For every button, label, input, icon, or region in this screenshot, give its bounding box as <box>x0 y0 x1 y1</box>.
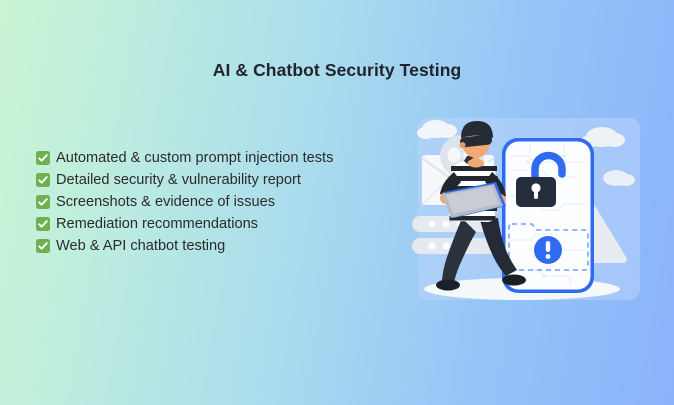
feature-list: Automated & custom prompt injection test… <box>36 147 406 257</box>
list-item-label: Screenshots & evidence of issues <box>56 194 275 210</box>
check-square-icon <box>36 173 50 187</box>
page-title: AI & Chatbot Security Testing <box>0 60 674 81</box>
list-item: Screenshots & evidence of issues <box>36 191 406 213</box>
check-square-icon <box>36 217 50 231</box>
check-square-icon <box>36 239 50 253</box>
list-item-label: Web & API chatbot testing <box>56 238 225 254</box>
list-item: Web & API chatbot testing <box>36 235 406 257</box>
shoe <box>502 275 526 286</box>
check-square-icon <box>36 195 50 209</box>
list-item: Remediation recommendations <box>36 213 406 235</box>
list-item-label: Detailed security & vulnerability report <box>56 172 301 188</box>
list-item: Automated & custom prompt injection test… <box>36 147 406 169</box>
hacker-stealing-data-illustration <box>404 100 666 310</box>
list-item-label: Automated & custom prompt injection test… <box>56 150 333 166</box>
slide-canvas: AI & Chatbot Security Testing Automated … <box>0 0 674 405</box>
alert-circle-icon <box>534 236 562 264</box>
list-item-label: Remediation recommendations <box>56 216 258 232</box>
shoe <box>436 280 460 291</box>
list-item: Detailed security & vulnerability report <box>36 169 406 191</box>
check-square-icon <box>36 151 50 165</box>
